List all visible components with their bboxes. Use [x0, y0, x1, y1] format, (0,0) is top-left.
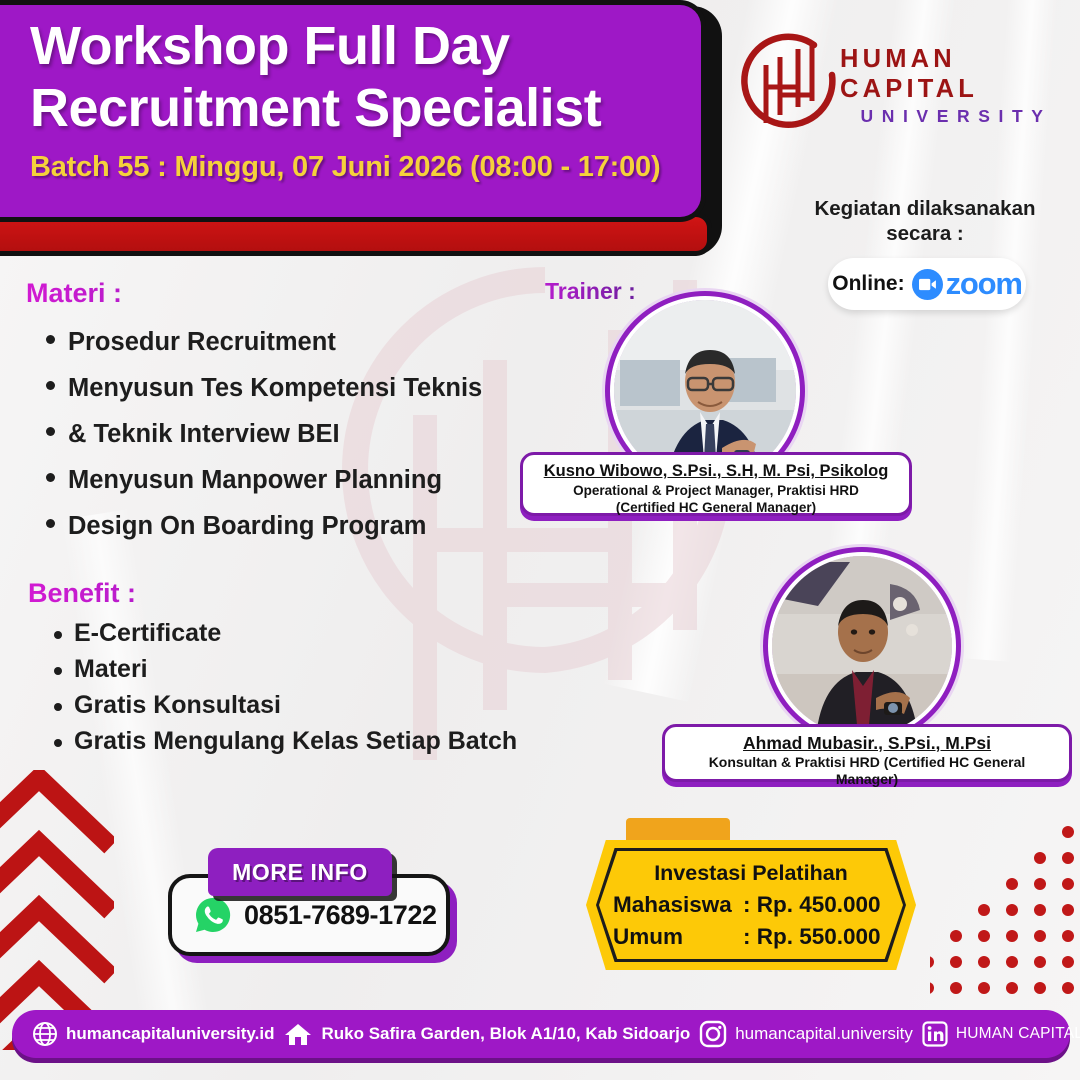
page-title-line1: Workshop Full Day: [30, 15, 675, 77]
benefit-heading: Benefit :: [28, 578, 628, 609]
footer-bar: humancapitaluniversity.id Ruko Safira Ga…: [12, 1010, 1070, 1058]
dot-grid-decoration-icon: [930, 820, 1080, 1020]
price-label: Mahasiswa: [599, 889, 743, 921]
benefit-section: Benefit : E-Certificate Materi Gratis Ko…: [28, 578, 628, 759]
footer-linkedin-text: HUMAN CAPITAL UNIVERSITY: [956, 1025, 1080, 1043]
footer-instagram[interactable]: humancapital.university: [699, 1020, 913, 1048]
linkedin-icon: [922, 1021, 948, 1047]
footer-address-text: Ruko Safira Garden, Blok A1/10, Kab Sido…: [321, 1024, 690, 1044]
footer-website[interactable]: humancapitaluniversity.id: [32, 1021, 274, 1047]
trainer-name: Ahmad Mubasir., S.Psi., M.Psi: [677, 733, 1057, 754]
page-title-line2: Recruitment Specialist: [30, 77, 675, 139]
price-value: : Rp. 450.000: [743, 889, 903, 921]
list-item: Gratis Mengulang Kelas Setiap Batch: [28, 723, 628, 759]
poster-canvas: Workshop Full Day Recruitment Specialist…: [0, 0, 1080, 1080]
footer-linkedin[interactable]: HUMAN CAPITAL UNIVERSITY: [922, 1021, 1080, 1047]
batch-date-text: Batch 55 : Minggu, 07 Juni 2026 (08:00 -…: [30, 151, 675, 184]
zoom-wordmark: zoom: [946, 266, 1022, 302]
header-banner: Workshop Full Day Recruitment Specialist…: [0, 0, 706, 222]
price-title: Investasi Pelatihan: [599, 857, 903, 889]
trainer-name-card-2: Ahmad Mubasir., S.Psi., M.Psi Konsultan …: [662, 724, 1072, 782]
list-item-continuation: & Teknik Interview BEI: [26, 411, 586, 457]
materi-list: Prosedur Recruitment Menyusun Tes Kompet…: [26, 319, 586, 549]
zoom-logo: zoom: [911, 266, 1022, 302]
chevron-decoration-icon: [0, 770, 114, 1050]
trainer-photo-2: [772, 556, 952, 736]
list-item: Materi: [28, 651, 628, 687]
list-item: Gratis Konsultasi: [28, 687, 628, 723]
list-item: Menyusun Tes Kompetensi Teknis: [26, 365, 586, 411]
trainer-role-line1: Konsultan & Praktisi HRD (Certified HC G…: [677, 754, 1057, 788]
trainer-role-line1: Operational & Project Manager, Praktisi …: [535, 482, 897, 499]
footer-website-text: humancapitaluniversity.id: [66, 1024, 274, 1044]
materi-section: Materi : Prosedur Recruitment Menyusun T…: [26, 278, 586, 549]
footer-instagram-text: humancapital.university: [735, 1024, 913, 1044]
price-block: Investasi Pelatihan Mahasiswa : Rp. 450.…: [586, 818, 926, 976]
price-row: Umum : Rp. 550.000: [599, 921, 903, 953]
brand-logo-text: HUMAN CAPITAL UNIVERSITY: [840, 44, 1066, 128]
more-info-block[interactable]: MORE INFO 0851-7689-1722: [168, 848, 468, 962]
list-item: Design On Boarding Program: [26, 503, 586, 549]
list-item: Prosedur Recruitment: [26, 319, 586, 365]
home-icon: [283, 1021, 313, 1047]
more-info-badge: MORE INFO: [208, 848, 392, 896]
h-monogram-icon: [736, 31, 846, 141]
price-row: Mahasiswa : Rp. 450.000: [599, 889, 903, 921]
brand-name-secondary: UNIVERSITY: [840, 104, 1066, 128]
list-item: Menyusun Manpower Planning: [26, 457, 586, 503]
brand-name-primary: HUMAN CAPITAL: [840, 44, 1066, 104]
zoom-platform-badge: Online: zoom: [828, 258, 1026, 310]
trainer-name: Kusno Wibowo, S.Psi., S.H, M. Psi, Psiko…: [535, 461, 897, 482]
materi-heading: Materi :: [26, 278, 586, 309]
online-label: Online:: [832, 272, 904, 296]
more-info-label: MORE INFO: [232, 859, 368, 886]
brand-logo: HUMAN CAPITAL UNIVERSITY: [736, 26, 1066, 146]
benefit-list: E-Certificate Materi Gratis Konsultasi G…: [28, 615, 628, 759]
globe-icon: [32, 1021, 58, 1047]
trainer-role-line2: (Certified HC General Manager): [535, 499, 897, 516]
zoom-camera-icon: [911, 268, 944, 301]
price-label: Umum: [599, 921, 743, 953]
instagram-icon: [699, 1020, 727, 1048]
whatsapp-phone-number: 0851-7689-1722: [244, 900, 437, 931]
price-hexagon-inner: Investasi Pelatihan Mahasiswa : Rp. 450.…: [599, 851, 903, 959]
whatsapp-icon: [194, 896, 232, 934]
footer-address: Ruko Safira Garden, Blok A1/10, Kab Sido…: [283, 1021, 690, 1047]
trainer-name-card-1: Kusno Wibowo, S.Psi., S.H, M. Psi, Psiko…: [520, 452, 912, 516]
platform-note: Kegiatan dilaksanakan secara :: [780, 196, 1070, 246]
price-value: : Rp. 550.000: [743, 921, 903, 953]
list-item: E-Certificate: [28, 615, 628, 651]
